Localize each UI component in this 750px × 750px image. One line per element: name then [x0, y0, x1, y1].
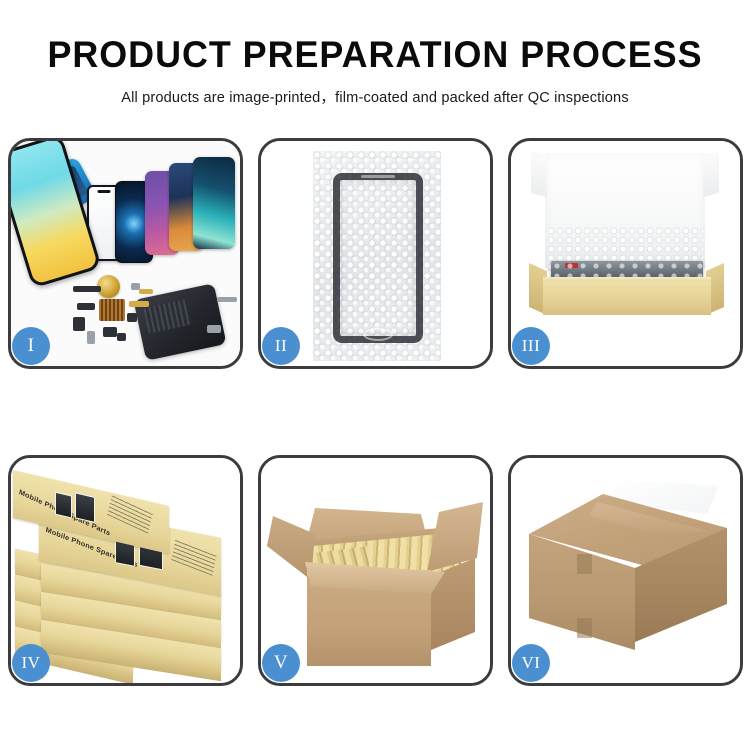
mesh-part [99, 299, 125, 321]
carton-hand-hole [577, 554, 592, 574]
spare-part [73, 286, 101, 292]
step-4-image: Mobile Phone Spare Parts Mobile Phone Sp… [11, 458, 240, 683]
spare-part [207, 325, 221, 333]
step-6-image [511, 458, 740, 683]
spare-part [139, 289, 153, 294]
process-step-4: Mobile Phone Spare Parts Mobile Phone Sp… [8, 455, 243, 686]
step-5-image [261, 458, 490, 683]
step-3-image [511, 141, 740, 366]
bubble-wrap-sheet [313, 151, 441, 361]
process-step-3: III [508, 138, 743, 369]
process-step-6: VI [508, 455, 743, 686]
teal-gradient-screen [193, 157, 235, 249]
product-preparation-infographic: PRODUCT PREPARATION PROCESS All products… [0, 0, 750, 750]
kraft-box-front-face [543, 281, 711, 315]
header: PRODUCT PREPARATION PROCESS All products… [0, 0, 750, 107]
step-badge-1: I [12, 327, 50, 365]
process-step-grid: I II [8, 138, 742, 686]
spare-part [217, 297, 237, 302]
process-step-5: V [258, 455, 493, 686]
step-badge-6: VI [512, 644, 550, 682]
box-spec-text [107, 494, 153, 533]
spare-part [129, 301, 149, 307]
spare-part [77, 303, 95, 310]
page-title: PRODUCT PREPARATION PROCESS [11, 36, 739, 75]
phone-glass-panel [333, 173, 423, 343]
box-product-photo [55, 492, 72, 519]
process-step-2: II [258, 138, 493, 369]
process-step-1: I [8, 138, 243, 369]
carton-hand-hole [577, 618, 592, 638]
step-badge-5: V [262, 644, 300, 682]
phone-back-housing [133, 283, 226, 361]
red-label [565, 263, 578, 268]
step-badge-3: III [512, 327, 550, 365]
page-subtitle: All products are image-printed，film-coat… [0, 86, 750, 107]
box-spec-text [171, 539, 216, 576]
step-2-image [261, 141, 490, 366]
step-1-image [11, 141, 240, 366]
step-badge-2: II [262, 327, 300, 365]
spare-part [103, 327, 117, 337]
spare-part [127, 313, 137, 322]
box-stack: Mobile Phone Spare Parts Mobile Phone Sp… [11, 458, 240, 683]
box-product-photo [75, 492, 95, 523]
step-badge-4: IV [12, 644, 50, 682]
home-button-outline [363, 328, 393, 341]
spare-part [73, 317, 85, 331]
spare-part [117, 333, 126, 341]
spare-part [87, 331, 95, 344]
